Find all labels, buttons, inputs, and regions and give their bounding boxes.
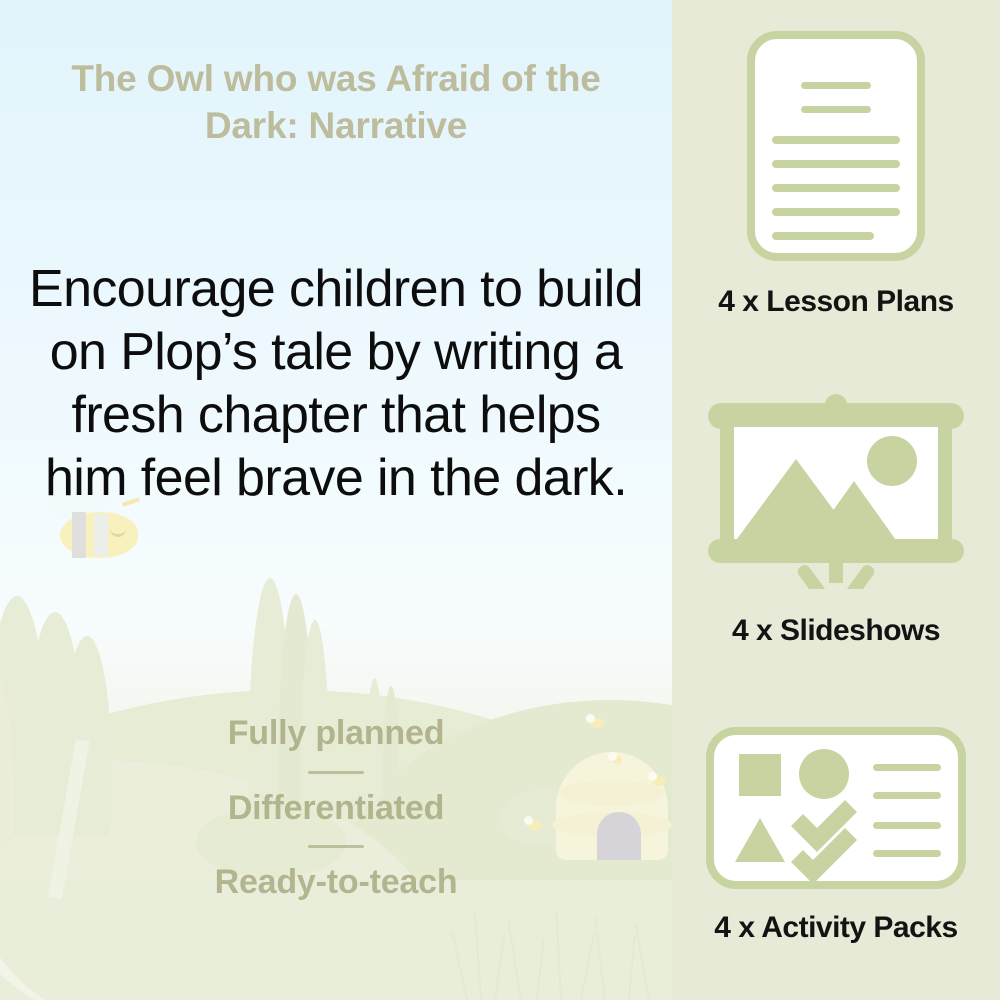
feature-item: Differentiated — [36, 791, 636, 827]
bee-stripe — [94, 514, 108, 556]
left-panel: The Owl who was Afraid of the Dark: Narr… — [0, 0, 672, 1000]
feature-list: Fully planned Differentiated Ready-to-te… — [36, 716, 636, 901]
presentation-icon — [702, 393, 970, 594]
sidebar-item-slideshows[interactable]: 4 x Slideshows — [672, 393, 1000, 648]
feature-item: Fully planned — [36, 716, 636, 752]
feature-divider — [308, 845, 364, 848]
sidebar-item-lesson-plans[interactable]: 4 x Lesson Plans — [672, 30, 1000, 319]
sidebar-item-label: 4 x Lesson Plans — [718, 285, 953, 319]
bee-stripe — [72, 512, 86, 558]
bee-icon — [652, 776, 666, 786]
feature-item: Ready-to-teach — [36, 865, 636, 901]
page-title: The Owl who was Afraid of the Dark: Narr… — [36, 55, 636, 150]
activity-card-icon — [705, 726, 967, 895]
headline-text: Encourage children to build on Plop’s ta… — [26, 258, 646, 510]
poster-root: The Owl who was Afraid of the Dark: Narr… — [0, 0, 1000, 1000]
sidebar: 4 x Lesson Plans — [672, 0, 1000, 1000]
sidebar-item-label: 4 x Activity Packs — [714, 911, 957, 945]
feature-divider — [308, 771, 364, 774]
document-icon — [746, 30, 926, 267]
sidebar-item-label: 4 x Slideshows — [732, 614, 940, 648]
sidebar-item-activity-packs[interactable]: 4 x Activity Packs — [672, 726, 1000, 945]
